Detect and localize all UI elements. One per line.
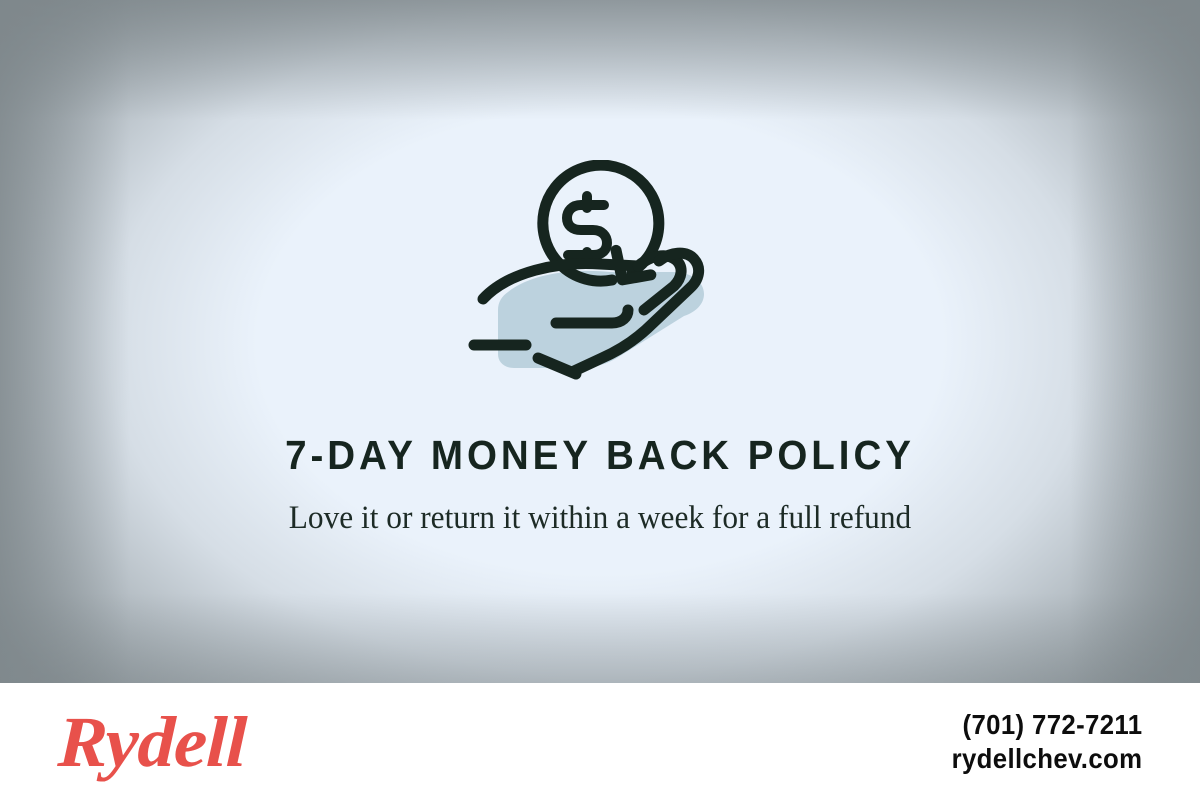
dollar-sign-icon (567, 196, 607, 264)
contact-block: (701) 772-7211 rydellchev.com (935, 708, 1142, 776)
website-url[interactable]: rydellchev.com (951, 742, 1142, 776)
hero-panel: 7-DAY MONEY BACK POLICY Love it or retur… (0, 0, 1200, 683)
promo-card: 7-DAY MONEY BACK POLICY Love it or retur… (0, 0, 1200, 800)
money-back-hand-icon (460, 160, 740, 390)
page-title: 7-DAY MONEY BACK POLICY (168, 430, 1033, 480)
phone-number[interactable]: (701) 772-7211 (951, 708, 1142, 742)
money-back-hand-icon-svg (460, 160, 740, 390)
page-subtitle: Love it or return it within a week for a… (268, 496, 933, 541)
hero-text-block: 7-DAY MONEY BACK POLICY Love it or retur… (0, 430, 1200, 541)
rydell-logo[interactable]: Rydell (57, 706, 247, 778)
footer-bar: Rydell (701) 772-7211 rydellchev.com (0, 683, 1200, 800)
